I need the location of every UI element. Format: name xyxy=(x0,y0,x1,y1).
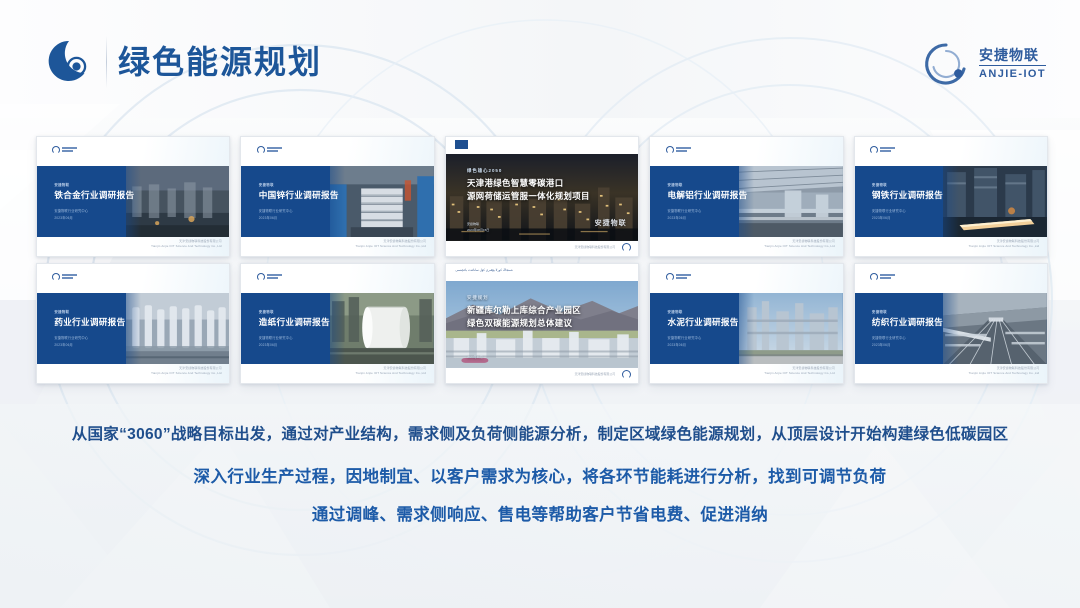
slide-card[interactable]: 安捷物联 药业行业调研报告 安捷物联行业研究中心 2023年06月 天津安捷物联… xyxy=(36,263,230,384)
slide-card[interactable]: 安捷物联 纺织行业调研报告 安捷物联行业研究中心 2023年06月 天津安捷物联… xyxy=(854,263,1048,384)
slide-stamp: 安捷物联 xyxy=(595,218,627,228)
slide-footer-cn: 天津安捷物联科技股份有限公司 xyxy=(792,239,835,243)
summary-line-2: 深入行业生产过程，因地制宜、以客户需求为核心，将各环节能耗进行分析，找到可调节负… xyxy=(0,458,1080,496)
mini-anjie-logo-icon xyxy=(52,146,77,154)
page-header: 绿色能源规划 安捷物联 ANJIE-IOT xyxy=(0,0,1080,118)
slide-footer-en: Tianjin Anjie IOT Science And Technology… xyxy=(764,371,835,375)
slide-footer-en: Tianjin Anjie IOT Science And Technology… xyxy=(969,371,1040,375)
slide-card[interactable]: 安捷物联 铁合金行业调研报告 安捷物联行业研究中心 2023年06月 天津安捷物… xyxy=(36,136,230,257)
slide-footer-en: Tianjin Anjie IOT Science And Technology… xyxy=(969,244,1040,248)
slide-footer-en: Tianjin Anjie IOT Science And Technology… xyxy=(764,244,835,248)
slide-card[interactable]: 安捷物联 水泥行业调研报告 安捷物联行业研究中心 2023年06月 天津安捷物联… xyxy=(649,263,843,384)
corp-wordmark: 安捷物联 ANJIE-IOT xyxy=(979,48,1046,81)
slide-date-1: 安捷物联 xyxy=(467,222,489,226)
slide-title: 药业行业调研报告 xyxy=(54,316,146,328)
mini-anjie-logo-icon xyxy=(870,273,895,281)
anjie-iot-ring-icon xyxy=(922,40,970,88)
mini-anjie-logo-icon xyxy=(455,140,468,149)
slide-thumbnail-grid: 安捷物联 铁合金行业调研报告 安捷物联行业研究中心 2023年06月 天津安捷物… xyxy=(36,136,1048,384)
slide-footer: 天津安捷物联科技股份有限公司 Tianjin Anjie IOT Science… xyxy=(764,239,835,248)
slide-title: 水泥行业调研报告 xyxy=(668,316,760,328)
mini-anjie-logo-icon xyxy=(257,146,282,154)
slide-card[interactable]: 安捷物联 电解铝行业调研报告 安捷物联行业研究中心 2023年06月 天津安捷物… xyxy=(649,136,843,257)
corp-name-en: ANJIE-IOT xyxy=(979,68,1046,80)
slide-footer-en: Tianjin Anjie IOT Science And Technology… xyxy=(151,371,222,375)
slide-sub-1: 安捷物联行业研究中心 xyxy=(54,208,146,213)
mini-anjie-ring-icon xyxy=(622,370,631,379)
slide-footer: 天津安捷物联科技股份有限公司 Tianjin Anjie IOT Science… xyxy=(355,239,426,248)
brand-lockup xyxy=(46,38,92,84)
slide-footer: 天津安捷物联科技股份有限公司 Tianjin Anjie IOT Science… xyxy=(969,239,1040,248)
corp-name-cn: 安捷物联 xyxy=(979,48,1046,64)
slide-card[interactable]: 安捷物联 钢铁行业调研报告 安捷物联行业研究中心 2023年06月 天津安捷物联… xyxy=(854,136,1048,257)
slide-card[interactable]: 安捷物联 中国锌行业调研报告 安捷物联行业研究中心 2023年06月 天津安捷物… xyxy=(240,136,434,257)
slide-date-2: 2023年08月15日 xyxy=(467,228,489,232)
mini-anjie-logo-icon xyxy=(870,146,895,154)
slide-sub-2: 2023年06月 xyxy=(668,342,760,347)
slide-kicker: 安捷物联 xyxy=(54,182,146,187)
slide-sub-1: 安捷物联行业研究中心 xyxy=(668,208,760,213)
slide-footer-cn: 天津安捷物联科技股份有限公司 xyxy=(792,366,835,370)
slide-footer-en: Tianjin Anjie IOT Science And Technology… xyxy=(151,244,222,248)
slide-kicker: 安捷物联 xyxy=(259,309,351,314)
slide-sub-1: 安捷物联行业研究中心 xyxy=(259,208,351,213)
slide-sub-2: 2023年06月 xyxy=(54,215,146,220)
slide-title-line-2: 绿色双碳能源规划总体建议 xyxy=(467,317,629,330)
slide-title: 铁合金行业调研报告 xyxy=(54,189,146,201)
slide-title: 钢铁行业调研报告 xyxy=(872,189,964,201)
slide-title: 中国锌行业调研报告 xyxy=(259,189,351,201)
slide-kicker: 安捷物联 xyxy=(54,309,146,314)
slide-sub-2: 2023年06月 xyxy=(668,215,760,220)
slide-card[interactable]: شىنجاڭ كورلا يۇقىرى كۆل سانائەت باغچىسى xyxy=(445,263,639,384)
slide-footer-cn: 天津安捷物联科技股份有限公司 xyxy=(384,366,427,370)
slide-footer: 天津安捷物联科技股份有限公司 Tianjin Anjie IOT Science… xyxy=(151,239,222,248)
slide-title: 电解铝行业调研报告 xyxy=(668,189,760,201)
summary-line-3: 通过调峰、需求侧响应、售电等帮助客户节省电费、促进消纳 xyxy=(0,496,1080,534)
corp-logo: 安捷物联 ANJIE-IOT xyxy=(922,40,1046,88)
slide-footer: 天津安捷物联科技股份有限公司 Tianjin Anjie IOT Science… xyxy=(969,366,1040,375)
slide-footer-cn: 天津安捷物联科技股份有限公司 xyxy=(575,372,615,376)
slide-footer: 天津安捷物联科技股份有限公司 Tianjin Anjie IOT Science… xyxy=(355,366,426,375)
slide-sub-2: 2023年06月 xyxy=(259,342,351,347)
slide-footer-cn: 天津安捷物联科技股份有限公司 xyxy=(179,239,222,243)
summary-line-1: 从国家“3060”战略目标出发，通过对产业结构，需求侧及负荷侧能源分析，制定区域… xyxy=(0,418,1080,452)
slide-top-note: شىنجاڭ كورلا يۇقىرى كۆل سانائەت باغچىسى xyxy=(455,268,512,272)
mini-anjie-logo-icon xyxy=(257,273,282,281)
slide-kicker: 绿色雄心2050 xyxy=(467,168,629,174)
slide-footer: 天津安捷物联科技股份有限公司 Tianjin Anjie IOT Science… xyxy=(764,366,835,375)
slide-sub-2: 2023年06月 xyxy=(872,342,964,347)
slide-date-1: 2023年11月 xyxy=(467,355,483,359)
slide-kicker: 安捷物联 xyxy=(259,182,351,187)
slide-title: 纺织行业调研报告 xyxy=(872,316,964,328)
page-title: 绿色能源规划 xyxy=(118,40,322,84)
slide-sub-1: 安捷物联行业研究中心 xyxy=(872,208,964,213)
slide-footer-cn: 天津安捷物联科技股份有限公司 xyxy=(997,239,1040,243)
corp-rule xyxy=(979,65,1046,66)
summary-copy: 从国家“3060”战略目标出发，通过对产业结构，需求侧及负荷侧能源分析，制定区域… xyxy=(0,418,1080,534)
slide-sub-1: 安捷物联行业研究中心 xyxy=(259,335,351,340)
slide-kicker: 安捷物联 xyxy=(668,182,760,187)
slide-sub-1: 安捷物联行业研究中心 xyxy=(668,335,760,340)
slide-footer: 天津安捷物联科技股份有限公司 Tianjin Anjie IOT Science… xyxy=(151,366,222,375)
slide-title-line-2: 源网荷储运管服一体化规划项目 xyxy=(467,190,629,203)
slide-kicker: 安捷规划 xyxy=(467,295,629,301)
anjie-circle-logo-icon xyxy=(46,38,92,84)
slide-sub-2: 2023年06月 xyxy=(54,342,146,347)
slide-footer-cn: 天津安捷物联科技股份有限公司 xyxy=(575,245,615,249)
slide-sub-2: 2023年06月 xyxy=(872,215,964,220)
title-divider xyxy=(106,36,107,88)
slide-footer-en: Tianjin Anjie IOT Science And Technology… xyxy=(355,244,426,248)
slide-footer-en: Tianjin Anjie IOT Science And Technology… xyxy=(355,371,426,375)
slide-sub-1: 安捷物联行业研究中心 xyxy=(54,335,146,340)
mini-anjie-ring-icon xyxy=(622,243,631,252)
slide-title-line-1: 天津港绿色智慧零碳港口 xyxy=(467,177,629,190)
slide-title-line-1: 新疆库尔勒上库综合产业园区 xyxy=(467,304,629,317)
slide-footer-cn: 天津安捷物联科技股份有限公司 xyxy=(384,239,427,243)
slide-card[interactable]: 安捷物联 造纸行业调研报告 安捷物联行业研究中心 2023年06月 天津安捷物联… xyxy=(240,263,434,384)
mini-anjie-logo-icon xyxy=(52,273,77,281)
slide-footer-cn: 天津安捷物联科技股份有限公司 xyxy=(179,366,222,370)
slide-sub-1: 安捷物联行业研究中心 xyxy=(872,335,964,340)
slide-kicker: 安捷物联 xyxy=(872,309,964,314)
slide-kicker: 安捷物联 xyxy=(668,309,760,314)
slide-card[interactable]: 绿色雄心2050 天津港绿色智慧零碳港口 源网荷储运管服一体化规划项目 安捷物联… xyxy=(445,136,639,257)
slide-title: 造纸行业调研报告 xyxy=(259,316,351,328)
mini-anjie-logo-icon xyxy=(666,146,691,154)
slide-kicker: 安捷物联 xyxy=(872,182,964,187)
mini-anjie-logo-icon xyxy=(666,273,691,281)
slide-sub-2: 2023年06月 xyxy=(259,215,351,220)
slide-footer-cn: 天津安捷物联科技股份有限公司 xyxy=(997,366,1040,370)
